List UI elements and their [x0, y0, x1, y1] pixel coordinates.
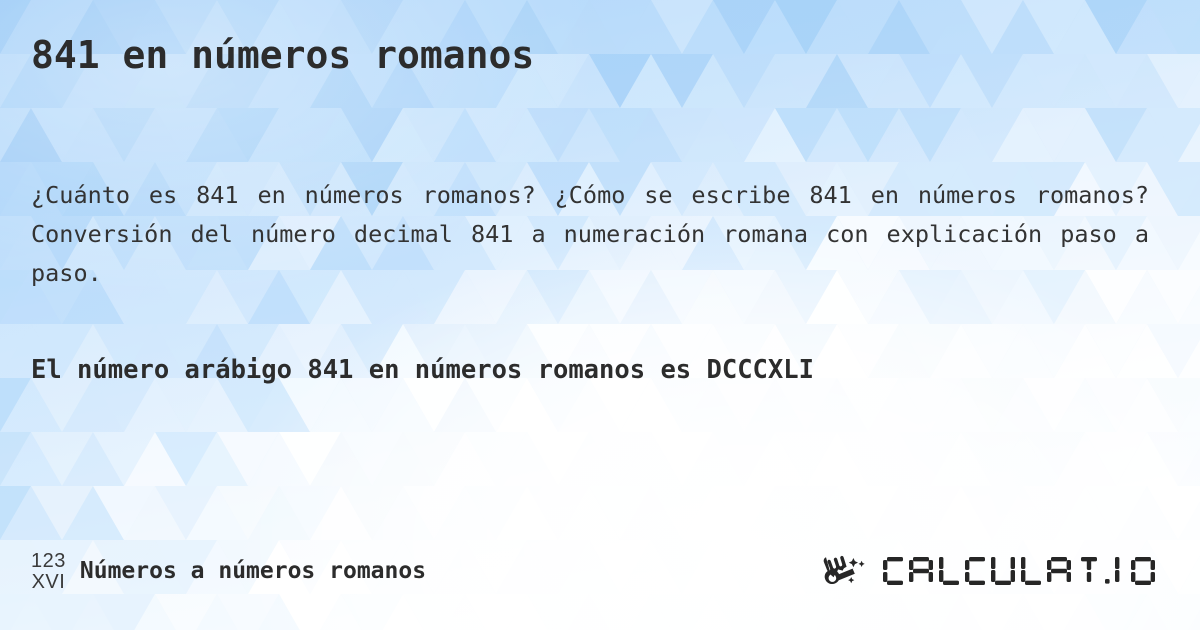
numbers-to-roman-icon: 123 XVI — [31, 550, 66, 592]
brandmark-arabic-label: 123 — [31, 551, 66, 571]
page-title: 841 en números romanos — [31, 31, 534, 79]
brandmark-roman-label: XVI — [32, 572, 66, 592]
magic-wand-hand-icon — [822, 553, 874, 589]
footer-section-label: Números a números romanos — [80, 558, 426, 584]
og-image-card: 841 en números romanos ¿Cuánto es 841 en… — [0, 0, 1200, 630]
footer-brand[interactable]: 123 XVI Números a números romanos — [31, 550, 426, 592]
intro-paragraph: ¿Cuánto es 841 en números romanos? ¿Cómo… — [31, 176, 1149, 293]
site-logo[interactable]: CALCULAT.IO — [822, 551, 1169, 591]
answer-statement: El número arábigo 841 en números romanos… — [31, 348, 1101, 392]
footer: 123 XVI Números a números romanos — [0, 540, 1200, 602]
calculatio-wordmark: CALCULAT.IO — [881, 551, 1169, 591]
